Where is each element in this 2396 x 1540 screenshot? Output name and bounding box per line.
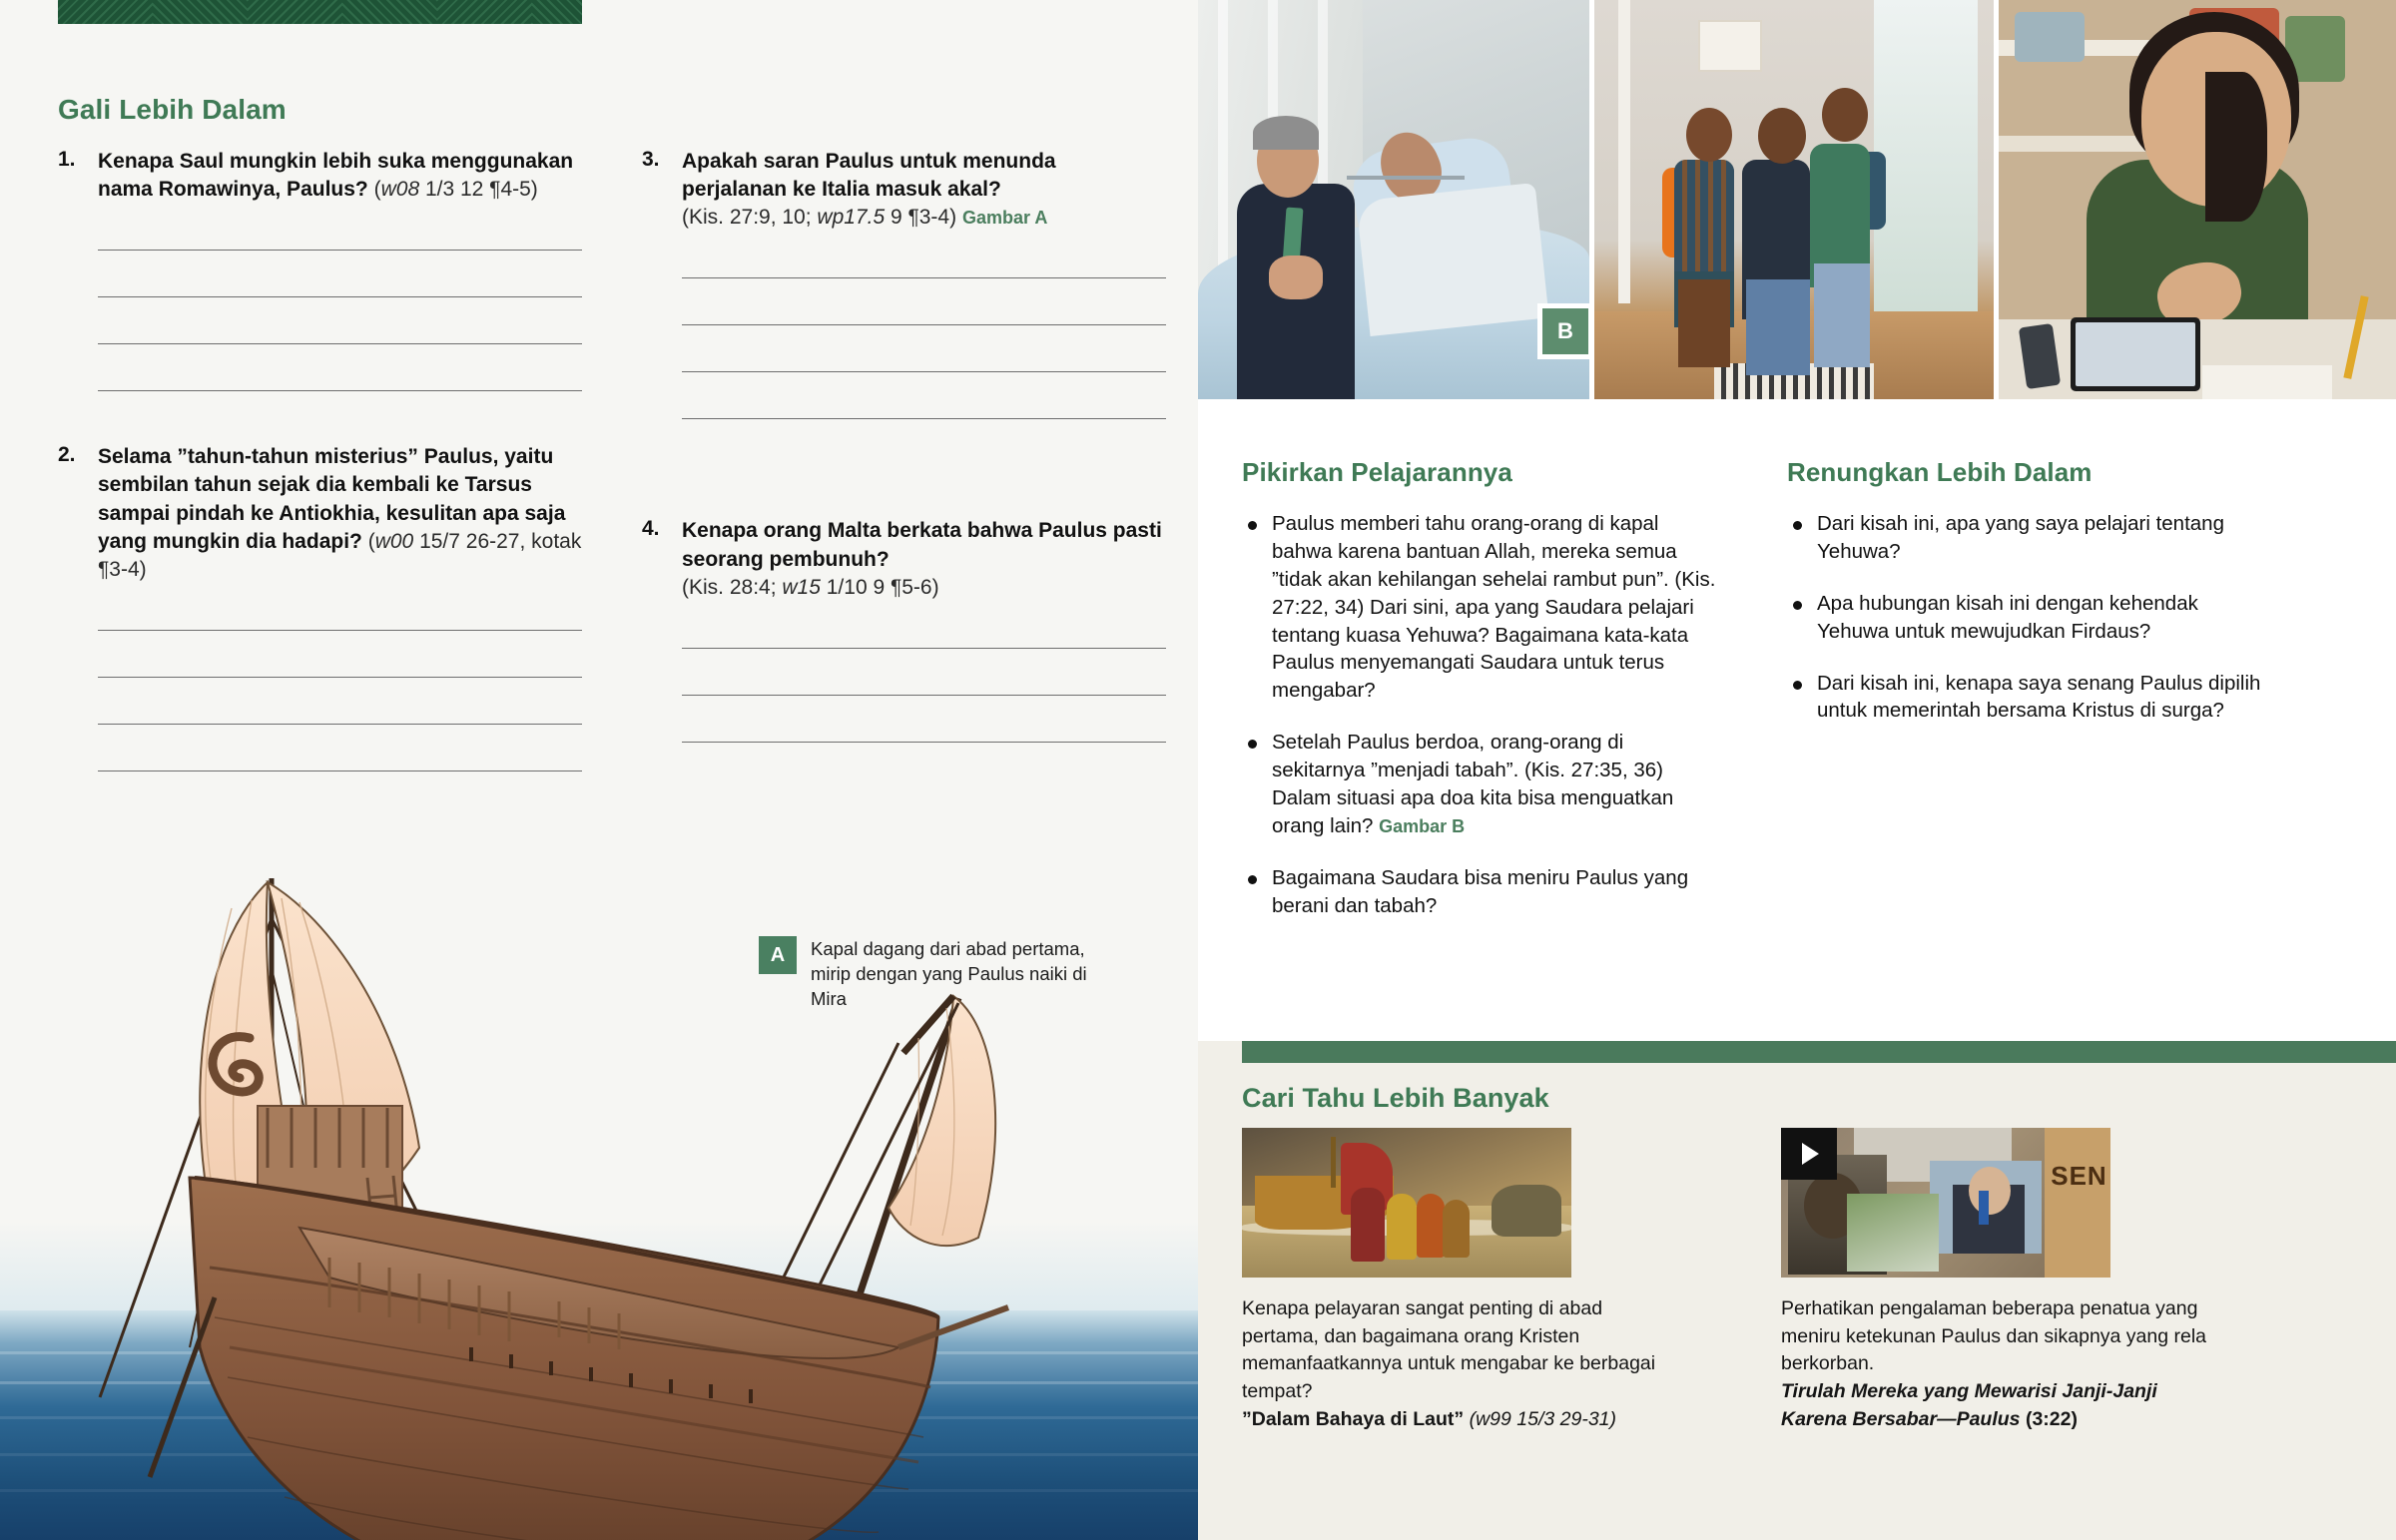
reflect-bullet-3: Dari kisah ini, kenapa saya senang Paulu… [1787,670,2266,726]
answer-line[interactable] [682,324,1166,325]
question-number: 3. [642,148,676,172]
answer-lines-q2[interactable] [98,630,582,771]
think-bullet-3: Bagaimana Saudara bisa meniru Paulus yan… [1242,864,1721,920]
reference-rest: 1/3 12 ¶4-5) [419,178,538,201]
more-card-article[interactable]: Kenapa pelayaran sangat penting di abad … [1242,1128,1671,1433]
photo-strip [1198,0,2396,399]
section-title-renungkan: Renungkan Lebih Dalam [1787,457,2266,488]
section-title-pikirkan: Pikirkan Pelajarannya [1242,457,1721,488]
answer-line[interactable] [682,371,1166,372]
questions-column-right: 3. Apakah saran Paulus untuk menunda per… [642,148,1166,743]
questions-column-left: 1. Kenapa Saul mungkin lebih suka menggu… [58,148,582,771]
more-card-video[interactable]: SEN Perhatikan pengalaman beberapa penat… [1781,1128,2210,1433]
reference-publication: w99 [1476,1408,1511,1430]
answer-lines-q3[interactable] [682,277,1166,419]
reference-publication: w15 [782,576,821,599]
answer-line[interactable] [98,296,582,297]
photo-hospital-visit [1198,0,1589,399]
think-bullet-1: Paulus memberi tahu orang-orang di kapal… [1242,510,1721,705]
column-renungkan-lebih-dalam: Renungkan Lebih Dalam Dari kisah ini, ap… [1787,457,2266,749]
answer-line[interactable] [98,343,582,344]
picture-tag-a: Gambar A [962,208,1047,228]
thumbnail-video-photos[interactable]: SEN [1781,1128,2110,1278]
more-card-link-title[interactable]: ”Dalam Bahaya di Laut” [1242,1408,1464,1430]
section-rule-green [1242,1041,2396,1063]
think-bullet-2: Setelah Paulus berdoa, orang-orang di se… [1242,729,1721,840]
answer-line[interactable] [682,648,1166,649]
bullet-text: Bagaimana Saudara bisa meniru Paulus yan… [1272,866,1688,917]
question-item-2: 2. Selama ”tahun-tahun misterius” Paulus… [58,443,582,771]
reference-rest: 9 ¶3-4) [885,206,956,229]
more-card-text: Perhatikan pengalaman beberapa penatua y… [1781,1295,2210,1433]
question-number: 4. [642,517,676,541]
answer-line[interactable] [98,390,582,391]
right-page: B Pikirkan Pelajarannya Paulus memberi t… [1198,0,2396,1540]
more-card-reference: (3:22) [2026,1408,2078,1430]
question-reference: (Kis. 27:9, 10; wp17.5 9 ¶3-4) [682,206,956,229]
decorative-chevron-band [58,0,582,24]
reflect-bullet-2: Apa hubungan kisah ini dengan kehendak Y… [1787,590,2266,646]
answer-line[interactable] [682,695,1166,696]
picture-tag-b: Gambar B [1379,816,1465,836]
more-card-body: Perhatikan pengalaman beberapa penatua y… [1781,1297,2206,1374]
answer-line[interactable] [682,277,1166,278]
photo-family-at-door [1594,0,1994,399]
question-text: Apakah saran Paulus untuk menunda perjal… [682,150,1056,201]
thumbnail-shipwreck-painting[interactable] [1242,1128,1571,1278]
merchant-ship-drawing [0,878,1198,1540]
question-body: Kenapa orang Malta berkata bahwa Paulus … [682,517,1166,601]
section-title-cari-tahu: Cari Tahu Lebih Banyak [1242,1083,1549,1114]
question-text: Kenapa orang Malta berkata bahwa Paulus … [682,519,1162,570]
reference-prefix: (Kis. 27:9, 10; [682,206,817,229]
more-card-link-title[interactable]: Tirulah Mereka yang Mewarisi Janji-Janji… [1781,1380,2157,1430]
ship-illustration [0,878,1198,1540]
answer-line[interactable] [98,677,582,678]
question-number: 2. [58,443,92,467]
reference-rest: 1/10 9 ¶5-6) [821,576,939,599]
answer-line[interactable] [682,418,1166,419]
question-body: Apakah saran Paulus untuk menunda perjal… [682,148,1166,232]
question-number: 1. [58,148,92,172]
question-item-4: 4. Kenapa orang Malta berkata bahwa Paul… [642,517,1166,742]
answer-line[interactable] [98,770,582,771]
figure-badge-b: B [1537,303,1593,359]
question-item-1: 1. Kenapa Saul mungkin lebih suka menggu… [58,148,582,391]
reflect-bullet-1: Dari kisah ini, apa yang saya pelajari t… [1787,510,2266,566]
answer-lines-q1[interactable] [98,250,582,391]
photo-girl-praying [1999,0,2396,399]
reflect-bullet-list: Dari kisah ini, apa yang saya pelajari t… [1787,510,2266,725]
question-body: Kenapa Saul mungkin lebih suka menggunak… [98,148,582,204]
answer-line[interactable] [98,724,582,725]
left-page: Gali Lebih Dalam 1. Kenapa Saul mungkin … [0,0,1198,1540]
column-pikirkan-pelajarannya: Pikirkan Pelajarannya Paulus memberi tah… [1242,457,1721,943]
play-icon[interactable] [1781,1128,1837,1180]
thumbnail-text: SEN [2051,1161,2106,1192]
reference-publication: w00 [375,530,414,553]
reference-rest: 15/3 29-31) [1511,1408,1616,1430]
question-item-3: 3. Apakah saran Paulus untuk menunda per… [642,148,1166,419]
more-card-text: Kenapa pelayaran sangat penting di abad … [1242,1295,1671,1433]
reference-publication: wp17.5 [817,206,885,229]
think-bullet-list: Paulus memberi tahu orang-orang di kapal… [1242,510,1721,919]
more-card-body: Kenapa pelayaran sangat penting di abad … [1242,1297,1655,1402]
page-title-gali-lebih-dalam: Gali Lebih Dalam [58,94,287,126]
answer-line[interactable] [98,250,582,251]
reference-prefix: (Kis. 28:4; [682,576,782,599]
magazine-spread: Gali Lebih Dalam 1. Kenapa Saul mungkin … [0,0,2396,1540]
more-card-reference: (w99 15/3 29-31) [1470,1408,1616,1430]
answer-line[interactable] [682,742,1166,743]
question-body: Selama ”tahun-tahun misterius” Paulus, y… [98,443,582,584]
bullet-text: Paulus memberi tahu orang-orang di kapal… [1272,512,1715,702]
question-reference: (Kis. 28:4; w15 1/10 9 ¶5-6) [682,576,939,599]
bullet-text: Setelah Paulus berdoa, orang-orang di se… [1272,731,1673,837]
reference-publication: w08 [381,178,420,201]
question-reference: (w08 1/3 12 ¶4-5) [374,178,538,201]
answer-line[interactable] [98,630,582,631]
answer-lines-q4[interactable] [682,648,1166,743]
